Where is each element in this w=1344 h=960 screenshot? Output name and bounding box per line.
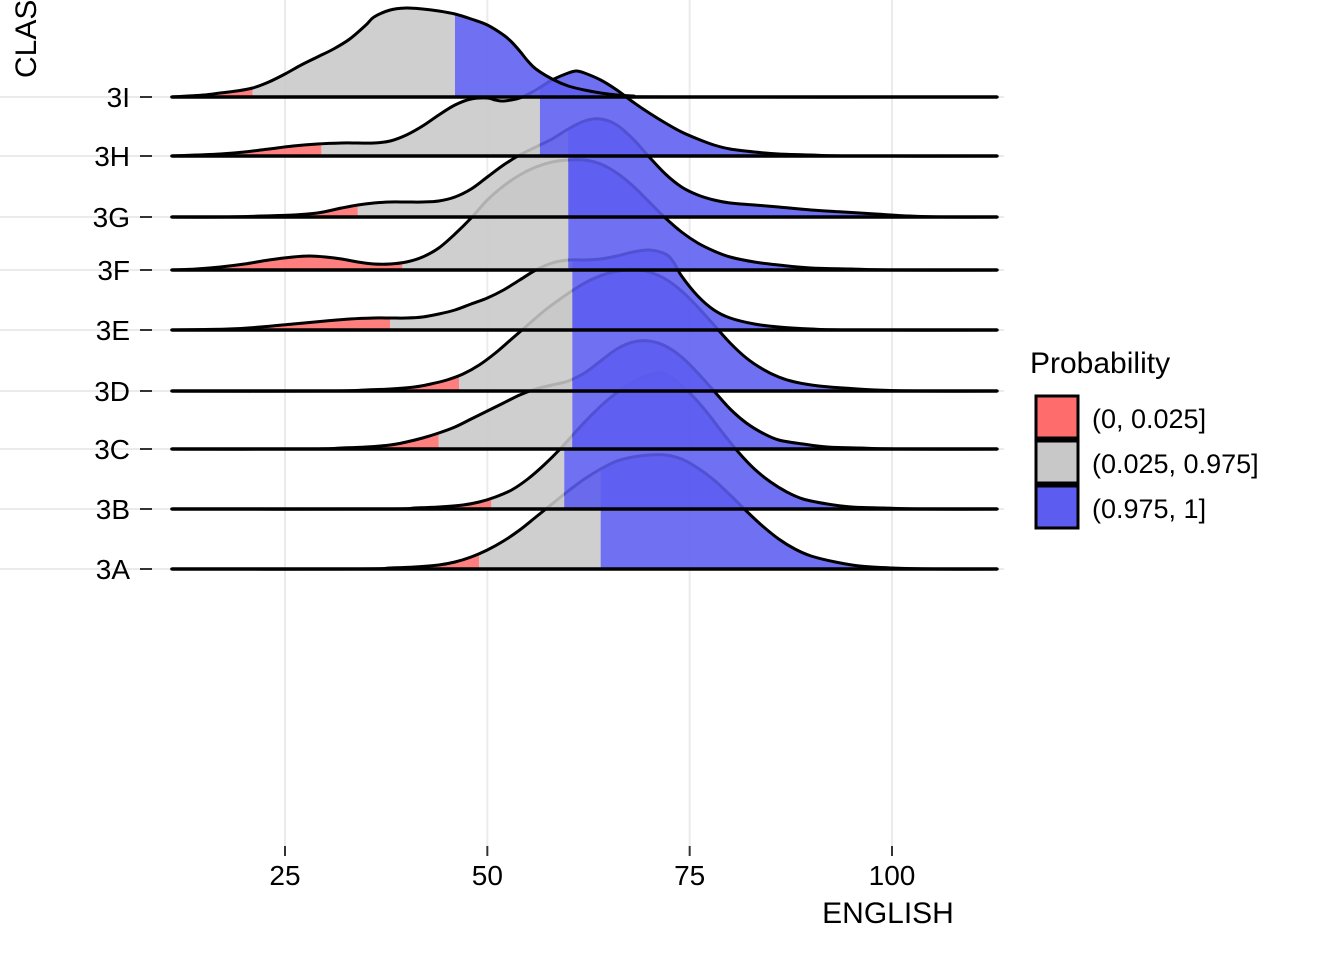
x-tick-label: 100 [869, 860, 916, 891]
x-tick-label: 75 [674, 860, 705, 891]
legend-swatch [1036, 441, 1078, 483]
y-tick-label: 3C [94, 434, 130, 465]
x-tick-label: 25 [269, 860, 300, 891]
plot-canvas: 255075100 3I3H3G3F3E3D3C3B3A ENGLISH CLA… [0, 0, 1344, 960]
y-tick-label: 3B [96, 494, 130, 525]
legend-entry-label: (0, 0.025] [1092, 404, 1206, 434]
y-tick-label: 3F [97, 255, 130, 286]
x-tick-label: 50 [472, 860, 503, 891]
y-tick-label: 3H [94, 141, 130, 172]
ridgeline-plot: 255075100 3I3H3G3F3E3D3C3B3A ENGLISH CLA… [0, 0, 1344, 960]
y-tick-label: 3D [94, 376, 130, 407]
y-tick-label: 3G [93, 202, 130, 233]
legend-entry-label: (0.975, 1] [1092, 494, 1206, 524]
legend-title: Probability [1030, 347, 1170, 380]
y-tick-label: 3E [96, 315, 130, 346]
legend-swatch [1036, 486, 1078, 528]
y-tick-label: 3I [107, 82, 130, 113]
legend-entry-label: (0.025, 0.975] [1092, 449, 1259, 479]
x-axis-title: ENGLISH [822, 897, 954, 930]
y-tick-label: 3A [96, 554, 131, 585]
legend-swatch [1036, 396, 1078, 438]
y-axis-title: CLASS [10, 0, 43, 78]
